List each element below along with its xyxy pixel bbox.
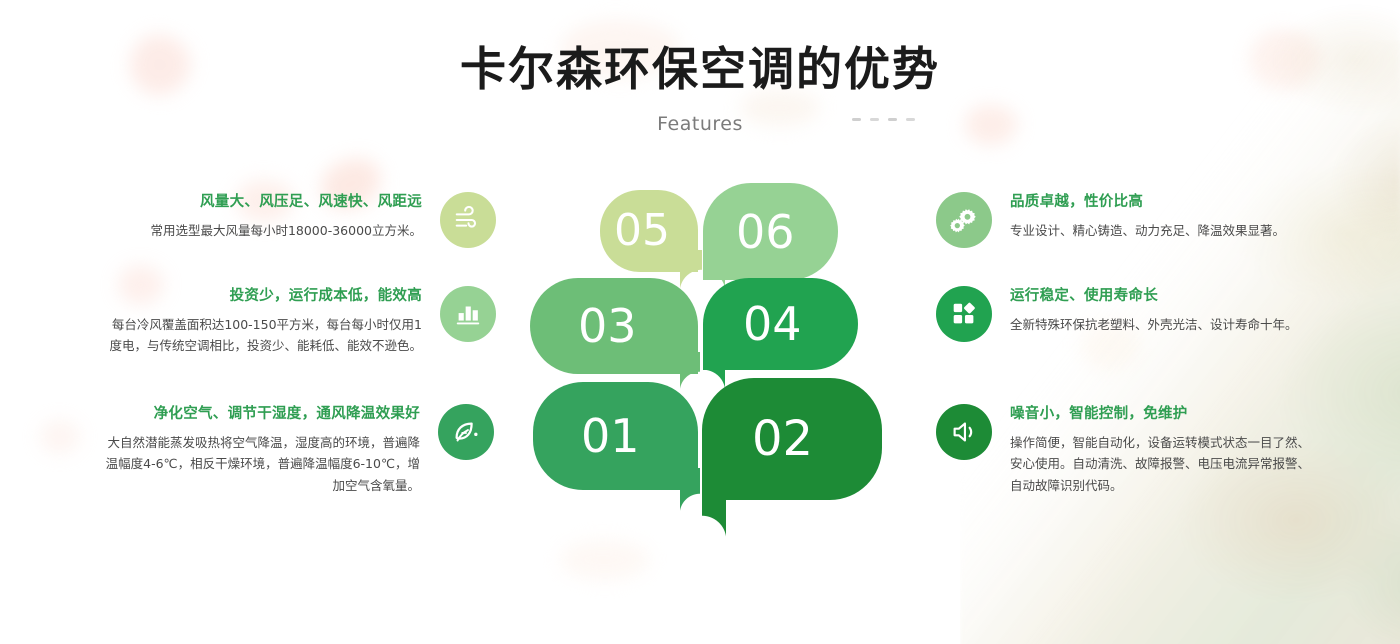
leaf-badge-05[interactable]: 05: [600, 190, 698, 272]
feature-text: 净化空气、调节干湿度，通风降温效果好 大自然潜能蒸发吸热将空气降温，湿度高的环境…: [100, 404, 420, 496]
feature-text: 运行稳定、使用寿命长 全新特殊环保抗老塑料、外壳光洁、设计寿命十年。: [1010, 286, 1340, 335]
leaf-badge-01[interactable]: 01: [533, 382, 698, 490]
blocks-icon: [936, 286, 992, 342]
feature-heading: 品质卓越，性价比高: [1010, 192, 1340, 214]
leaf-badge-02[interactable]: 02: [702, 378, 882, 500]
feature-body: 全新特殊环保抗老塑料、外壳光洁、设计寿命十年。: [1010, 314, 1340, 336]
leaf-number: 02: [752, 415, 813, 463]
feature-body: 大自然潜能蒸发吸热将空气降温，湿度高的环境，普遍降温幅度4-6℃，相反干燥环境，…: [100, 432, 420, 497]
feature-block-06[interactable]: 品质卓越，性价比高 专业设计、精心铸造、动力充足、降温效果显著。: [936, 192, 1340, 248]
gears-icon: [936, 192, 992, 248]
feature-text: 风量大、风压足、风速快、风距远 常用选型最大风量每小时18000-36000立方…: [102, 192, 422, 241]
feature-text: 噪音小，智能控制，免维护 操作简便，智能自动化，设备运转模式状态一目了然、安心使…: [1010, 404, 1310, 496]
feature-block-04[interactable]: 运行稳定、使用寿命长 全新特殊环保抗老塑料、外壳光洁、设计寿命十年。: [936, 286, 1340, 342]
feature-block-05[interactable]: 风量大、风压足、风速快、风距远 常用选型最大风量每小时18000-36000立方…: [102, 192, 496, 248]
leaf-badge-06[interactable]: 06: [703, 183, 838, 280]
feature-heading: 投资少，运行成本低，能效高: [102, 286, 422, 308]
speaker-icon: [936, 404, 992, 460]
feature-body: 常用选型最大风量每小时18000-36000立方米。: [102, 220, 422, 242]
leaf-number: 03: [578, 303, 637, 349]
feature-heading: 风量大、风压足、风速快、风距远: [102, 192, 422, 214]
feature-heading: 运行稳定、使用寿命长: [1010, 286, 1340, 308]
feature-block-02[interactable]: 噪音小，智能控制，免维护 操作简便，智能自动化，设备运转模式状态一目了然、安心使…: [936, 404, 1310, 496]
feature-heading: 净化空气、调节干湿度，通风降温效果好: [100, 404, 420, 426]
leaf-number: 06: [736, 209, 795, 255]
leaf-badge-03[interactable]: 03: [530, 278, 698, 374]
wind-icon: [440, 192, 496, 248]
feature-block-03[interactable]: 投资少，运行成本低，能效高 每台冷风覆盖面积达100-150平方米，每台每小时仅…: [102, 286, 496, 357]
leaf-badge-04[interactable]: 04: [703, 278, 858, 370]
feature-body: 专业设计、精心铸造、动力充足、降温效果显著。: [1010, 220, 1340, 242]
leaf-number: 01: [581, 413, 640, 459]
leaf-number: 05: [614, 209, 670, 253]
feature-heading: 噪音小，智能控制，免维护: [1010, 404, 1310, 426]
feature-body: 操作简便，智能自动化，设备运转模式状态一目了然、安心使用。自动清洗、故障报警、电…: [1010, 432, 1310, 497]
leaf-number: 04: [743, 301, 802, 347]
feature-block-01[interactable]: 净化空气、调节干湿度，通风降温效果好 大自然潜能蒸发吸热将空气降温，湿度高的环境…: [100, 404, 494, 496]
bar-chart-icon: [440, 286, 496, 342]
infographic-page: 卡尔森环保空调的优势 Features 05 06 03 04 01 02: [0, 0, 1400, 644]
feature-text: 投资少，运行成本低，能效高 每台冷风覆盖面积达100-150平方米，每台每小时仅…: [102, 286, 422, 357]
leaf-icon: [438, 404, 494, 460]
feature-text: 品质卓越，性价比高 专业设计、精心铸造、动力充足、降温效果显著。: [1010, 192, 1340, 241]
feature-body: 每台冷风覆盖面积达100-150平方米，每台每小时仅用1度电，与传统空调相比，投…: [102, 314, 422, 357]
